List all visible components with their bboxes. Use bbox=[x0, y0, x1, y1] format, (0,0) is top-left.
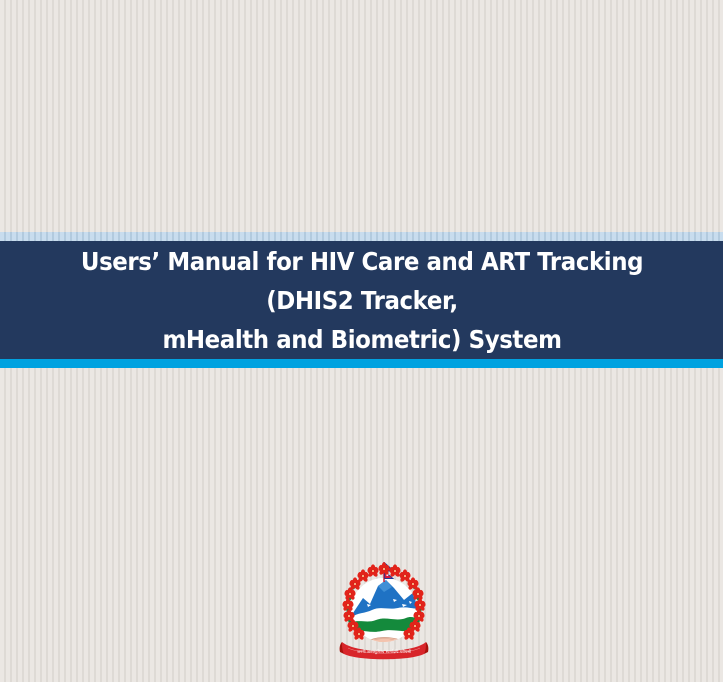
emblem-of-nepal-graphic: जननी जन्मभूमिश्च स्वर्गादपि गरीयसी bbox=[330, 558, 438, 662]
motto-scroll: जननी जन्मभूमिश्च स्वर्गादपि गरीयसी bbox=[340, 642, 429, 659]
cover-page: Users’ Manual for HIV Care and ART Track… bbox=[0, 0, 723, 682]
page-title: Users’ Manual for HIV Care and ART Track… bbox=[34, 242, 689, 359]
page-title-line-2: mHealth and Biometric) System bbox=[162, 325, 561, 354]
banner-bottom-strip bbox=[0, 359, 723, 368]
banner-top-strip bbox=[0, 232, 723, 241]
title-banner: Users’ Manual for HIV Care and ART Track… bbox=[0, 232, 723, 368]
emblem-of-nepal: जननी जन्मभूमिश्च स्वर्गादपि गरीयसी bbox=[330, 558, 438, 662]
page-title-line-1: Users’ Manual for HIV Care and ART Track… bbox=[80, 247, 642, 315]
banner-body: Users’ Manual for HIV Care and ART Track… bbox=[0, 241, 723, 359]
